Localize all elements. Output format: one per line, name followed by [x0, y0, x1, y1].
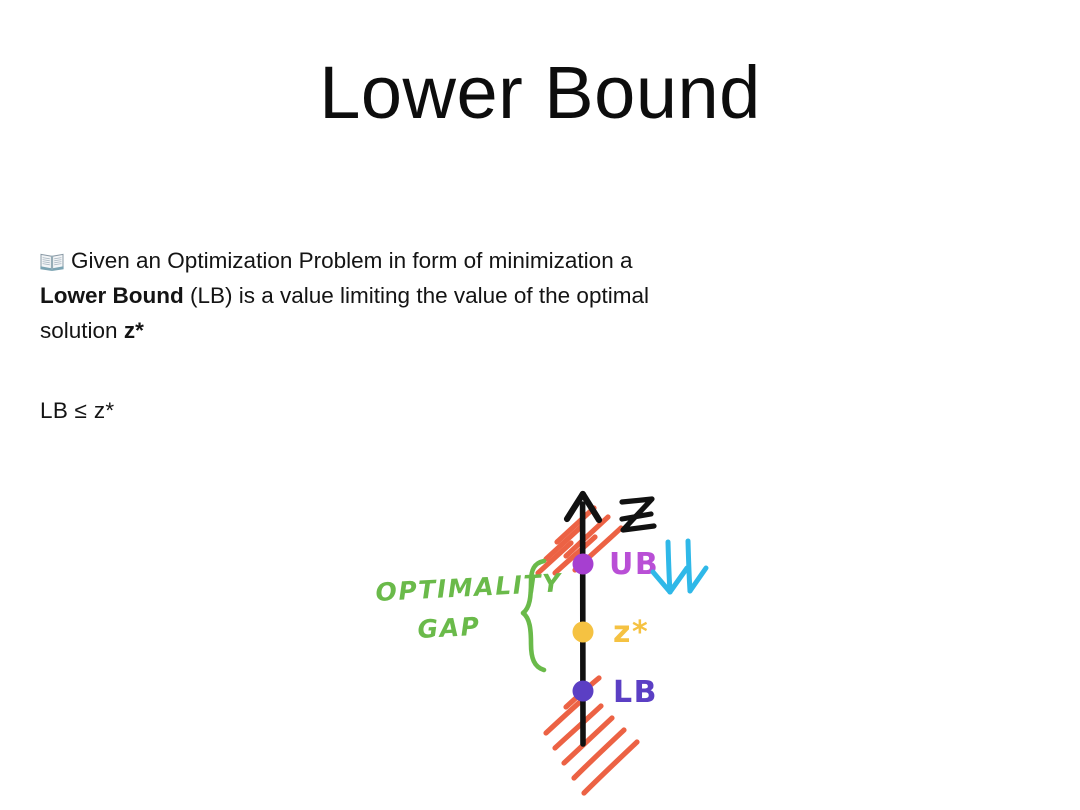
lower-bound-label: LB — [613, 675, 658, 710]
body-paragraph: Given an Optimization Problem in form of… — [40, 243, 680, 348]
lower-bound-marker-dot — [573, 681, 594, 702]
paragraph-text-part1: Given an Optimization Problem in form of… — [71, 248, 632, 273]
page-title: Lower Bound — [0, 56, 1080, 130]
optimality-gap-label-line1: OPTIMALITY — [375, 568, 564, 607]
open-book-icon — [40, 246, 64, 266]
slide-root: Lower Bound Given an Optimiz — [0, 0, 1080, 810]
optimum-label: z* — [613, 615, 649, 650]
paragraph-zstar: z* — [124, 318, 144, 343]
upper-bound-label: UB — [609, 547, 659, 582]
down-arrow-icon — [653, 541, 706, 592]
optimality-gap-label-line2: GAP — [417, 612, 481, 644]
optimum-marker-dot — [573, 622, 594, 643]
z-axis-label — [622, 499, 654, 530]
optimality-gap-diagram: OPTIMALITY GAP UB z* LB — [370, 442, 750, 802]
inequality-statement: LB ≤ z* — [40, 393, 114, 428]
paragraph-keyword-lower-bound: Lower Bound — [40, 283, 184, 308]
upper-bound-marker-dot — [573, 554, 594, 575]
